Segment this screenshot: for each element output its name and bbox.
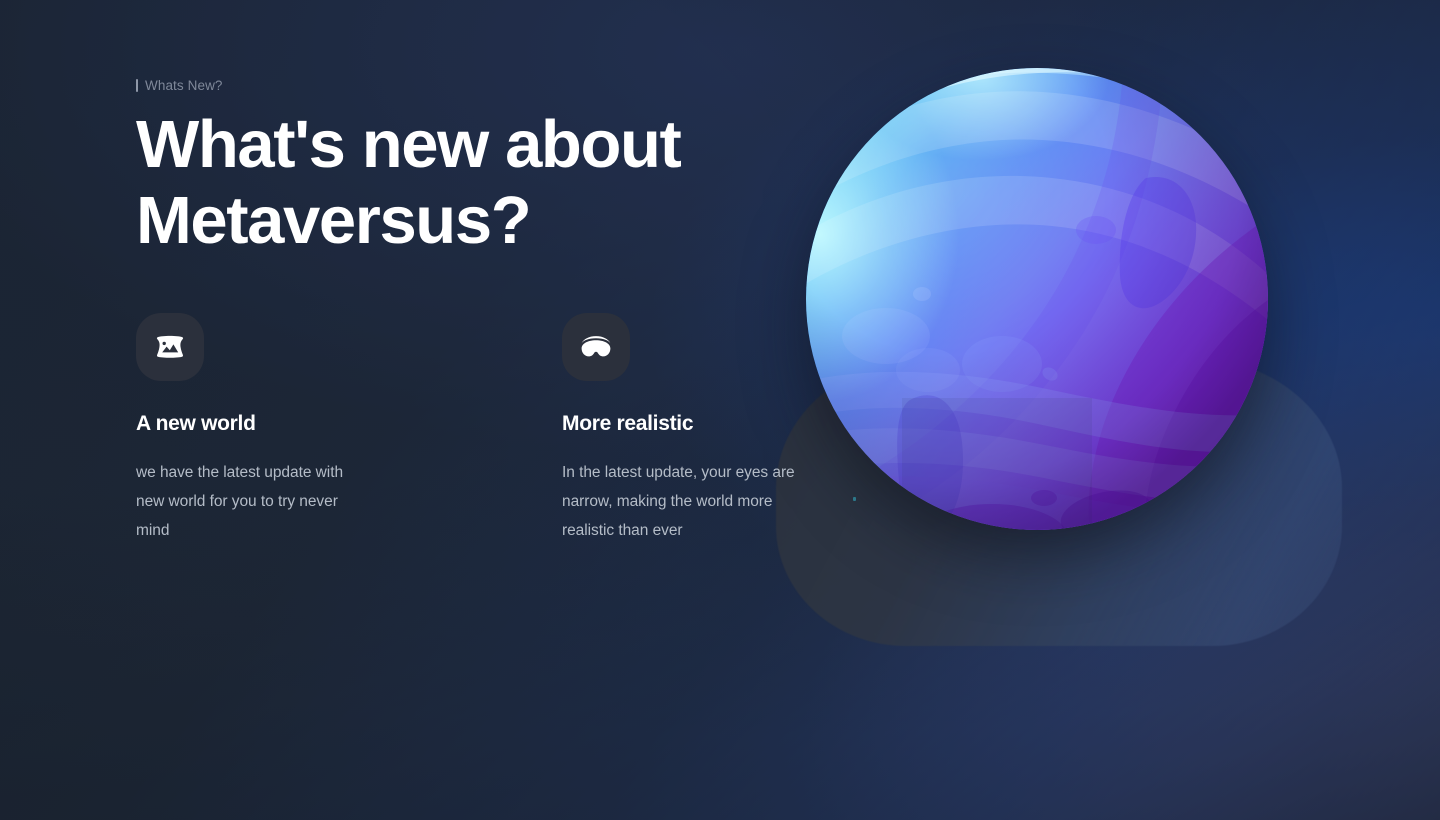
feature-description: In the latest update, your eyes are narr…: [562, 458, 798, 545]
planet-sphere: [806, 68, 1268, 530]
eyebrow: Whats New?: [136, 78, 756, 93]
sparkle-dot: [853, 497, 856, 501]
vr-headset-icon: [580, 335, 612, 359]
page-title: What's new about Metaversus?: [136, 107, 756, 259]
eyebrow-bar-icon: [136, 79, 138, 92]
feature-item-a-new-world: A new world we have the latest update wi…: [136, 313, 372, 545]
planet-illustration: [740, 40, 1400, 640]
eyebrow-label: Whats New?: [145, 78, 223, 93]
feature-list: A new world we have the latest update wi…: [136, 313, 798, 545]
feature-title: More realistic: [562, 412, 798, 436]
feature-item-more-realistic: More realistic In the latest update, you…: [562, 313, 798, 545]
feature-icon-tile[interactable]: [136, 313, 204, 381]
image-icon: [155, 335, 185, 359]
hero-text-block: Whats New? What's new about Metaversus?: [136, 78, 756, 259]
planet-wrapper: [806, 68, 1268, 530]
feature-description: we have the latest update with new world…: [136, 458, 372, 545]
feature-icon-tile[interactable]: [562, 313, 630, 381]
feature-title: A new world: [136, 412, 372, 436]
planet-bands-svg: [806, 68, 1268, 530]
